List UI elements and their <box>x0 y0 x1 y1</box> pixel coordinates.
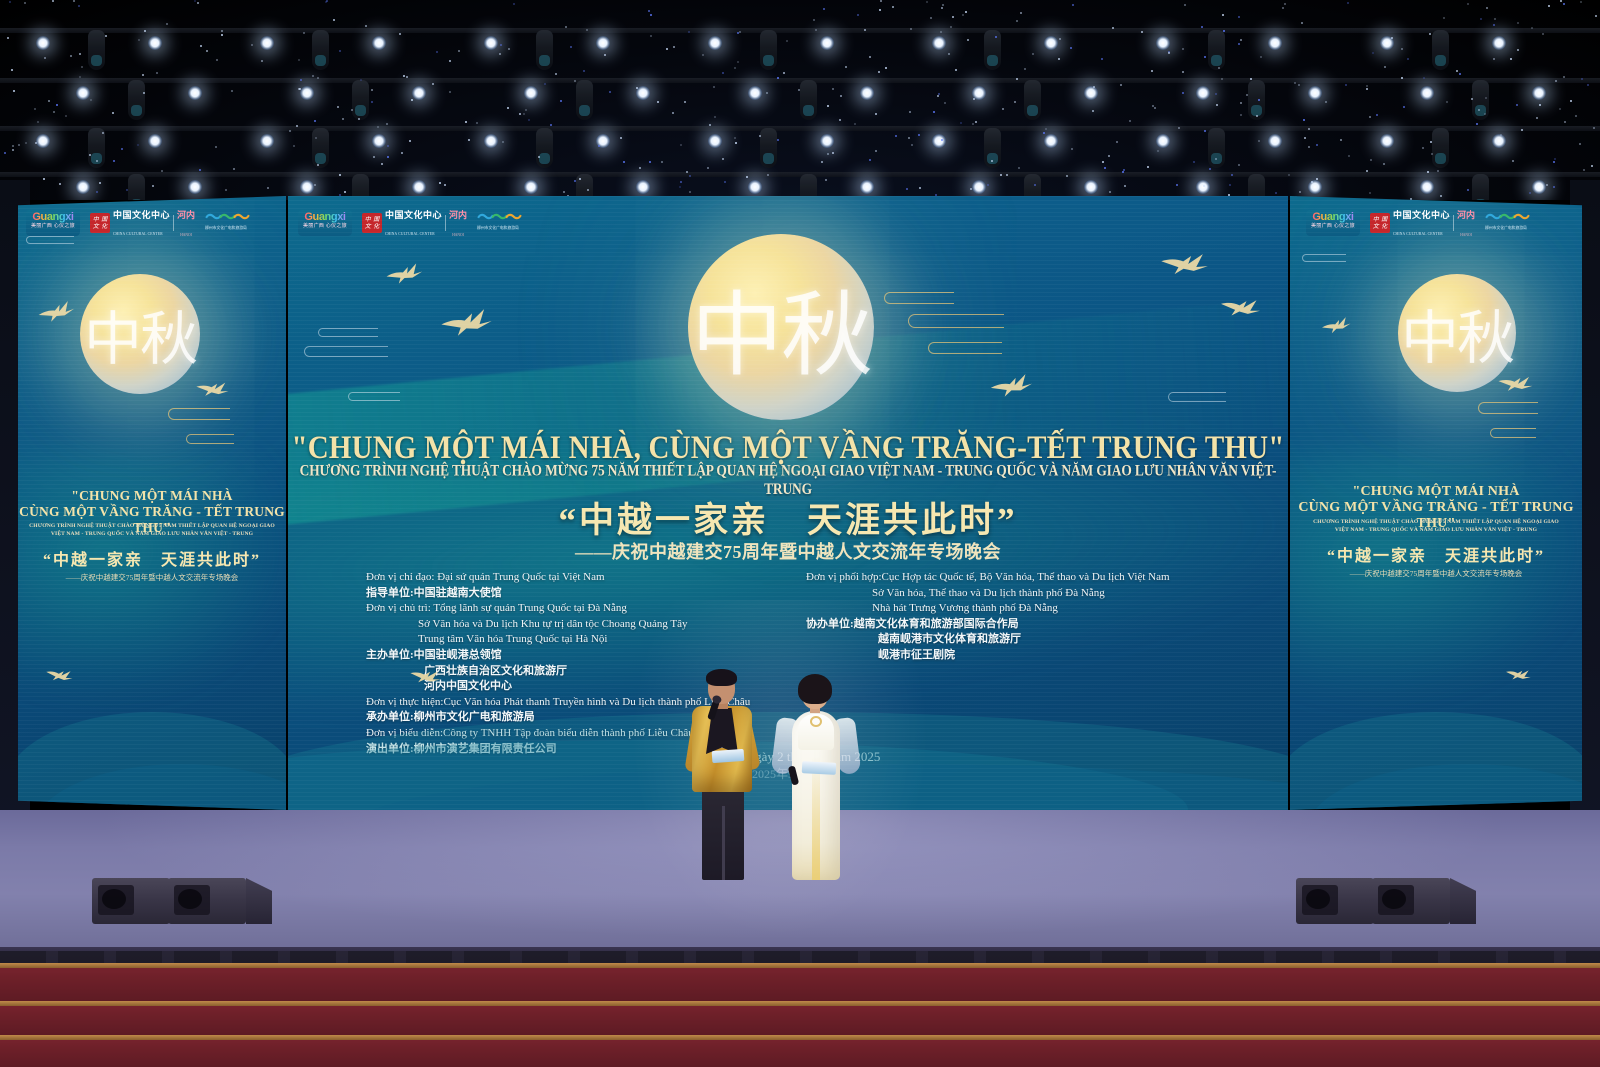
ceiling-star-led <box>1366 170 1368 172</box>
stage-downlight <box>932 134 946 148</box>
stage-downlight <box>260 134 274 148</box>
ceiling-star-led <box>854 123 856 125</box>
ceiling-star-led <box>312 75 314 77</box>
ceiling-star-led <box>300 79 302 81</box>
ceiling-star-led <box>1456 70 1458 72</box>
ceiling-star-led <box>941 7 943 9</box>
ceiling-star-led <box>1486 7 1488 9</box>
ceiling-star-led <box>65 115 67 117</box>
ceiling-star-led <box>432 83 434 85</box>
stage-downlight <box>300 86 314 100</box>
stage-downlight <box>860 180 874 194</box>
guangxi-tourism-logo: Guangxi 美丽广西 心仪之旅 <box>298 210 352 236</box>
ceiling-star-led <box>102 132 104 134</box>
ceiling-star-led <box>937 95 939 97</box>
ceiling-star-led <box>96 160 98 162</box>
ceiling-star-led <box>1071 148 1073 150</box>
ceiling-star-led <box>1221 78 1223 80</box>
stage-downlight <box>484 36 498 50</box>
stage-step <box>0 1035 1600 1067</box>
necklace <box>810 716 822 727</box>
ceiling-star-led <box>387 156 389 158</box>
trousers <box>702 788 744 880</box>
stage-downlight <box>260 36 274 50</box>
ceiling-star-led <box>1401 48 1403 50</box>
ceiling-star-led <box>1298 84 1300 86</box>
ceiling-star-led <box>225 189 227 191</box>
ceiling-star-led <box>563 191 565 193</box>
ceiling-star-led <box>1101 58 1103 60</box>
cloud-scroll-motif <box>1168 392 1226 402</box>
ceiling-star-led <box>879 9 881 11</box>
red-seal-icon: 中国文化 <box>90 213 110 233</box>
ceiling-star-led <box>293 145 295 147</box>
ceiling-star-led <box>639 167 641 169</box>
ceiling-star-led <box>1238 43 1240 45</box>
ceiling-star-led <box>126 189 128 191</box>
ceiling-star-led <box>832 88 834 90</box>
ceiling-star-led <box>1182 92 1184 94</box>
ceiling-star-led <box>79 53 81 55</box>
ceiling-star-led <box>1122 171 1124 173</box>
ceiling-star-led <box>1250 78 1252 80</box>
stage-downlight <box>300 180 314 194</box>
moon-glyph: 中秋 <box>688 234 874 420</box>
ceiling-star-led <box>1311 181 1313 183</box>
ceiling-star-led <box>1563 3 1565 5</box>
ceiling-star-led <box>1024 68 1026 70</box>
credit-line: Đơn vị phối hợp:Cục Hợp tác Quốc tế, Bộ … <box>806 570 1170 586</box>
ceiling-star-led <box>1020 12 1022 14</box>
ceiling-star-led <box>689 175 691 177</box>
ceiling-star-led <box>1215 158 1217 160</box>
ceiling-star-led <box>1168 52 1170 54</box>
ceiling-star-led <box>298 88 300 90</box>
ceiling-star-led <box>1563 76 1565 78</box>
ceiling-star-led <box>1129 120 1131 122</box>
ceiling-star-led <box>623 161 625 163</box>
ceiling-star-led <box>326 0 328 2</box>
ceiling-star-led <box>143 92 145 94</box>
stage-downlight <box>972 180 986 194</box>
credit-line: 主办单位:中国驻岘港总领馆 <box>366 648 750 664</box>
ceiling-star-led <box>1369 116 1371 118</box>
ceiling-star-led <box>1536 117 1538 119</box>
ceiling-star-led <box>734 137 736 139</box>
ceiling-star-led <box>1124 185 1126 187</box>
ceiling-star-led <box>1548 5 1550 7</box>
stage-downlight <box>76 180 90 194</box>
ceiling-star-led <box>574 80 576 82</box>
ceiling-star-led <box>1002 108 1004 110</box>
stage-downlight <box>1084 86 1098 100</box>
ceiling-star-led <box>739 31 741 33</box>
stage-downlight <box>748 86 762 100</box>
stage-downlight <box>1268 134 1282 148</box>
ceiling-star-led <box>1034 184 1036 186</box>
ceiling-star-led <box>940 31 942 33</box>
ceiling-star-led <box>1542 33 1544 35</box>
ceiling-star-led <box>1246 94 1248 96</box>
ceiling-star-led <box>973 98 975 100</box>
ceiling-star-led <box>387 145 389 147</box>
ceiling-star-led <box>381 163 383 165</box>
cloud-scroll-motif <box>1302 254 1346 262</box>
ceiling-star-led <box>59 183 61 185</box>
ceiling-star-led <box>11 69 13 71</box>
led-panel-right: 中秋 Guangxi 美丽广西 心仪之旅 中国文化 中国文化中心 CHINA C… <box>1290 196 1582 810</box>
ceiling-star-led <box>1104 167 1106 169</box>
cue-card <box>712 749 745 763</box>
ceiling-star-led <box>735 142 737 144</box>
logo-bar-right: Guangxi 美丽广西 心仪之旅 中国文化 中国文化中心 CHINA CULT… <box>1306 210 1527 236</box>
ceiling-star-led <box>1092 110 1094 112</box>
ceiling-star-led <box>560 100 562 102</box>
ceiling-star-led <box>1580 1 1582 3</box>
stage-downlight <box>188 180 202 194</box>
ceiling-star-led <box>37 121 39 123</box>
ceiling-star-led <box>555 73 557 75</box>
moving-head-fixture <box>1432 30 1449 70</box>
ceiling-star-led <box>620 137 622 139</box>
ceiling-star-led <box>636 87 638 89</box>
ceiling-star-led <box>1204 56 1206 58</box>
ceiling-star-led <box>1546 184 1548 186</box>
ceiling-star-led <box>942 4 944 6</box>
ceiling-star-led <box>339 50 341 52</box>
ceiling-star-led <box>1229 184 1231 186</box>
ceiling-star-led <box>930 17 932 19</box>
stage-downlight <box>484 134 498 148</box>
moving-head-fixture <box>536 30 553 70</box>
cloud-scroll-motif <box>928 342 1002 354</box>
ceiling-star-led <box>609 91 611 93</box>
ceiling-star-led <box>1553 161 1555 163</box>
ceiling-star-led <box>1184 4 1186 6</box>
stage-downlight <box>1308 86 1322 100</box>
ceiling-star-led <box>1446 101 1448 103</box>
stage-monitor-left <box>92 878 272 924</box>
credits-column-right: Đơn vị phối hợp:Cục Hợp tác Quốc tế, Bộ … <box>806 570 1170 664</box>
moving-head-fixture <box>1208 128 1225 168</box>
red-seal-icon: 中国文化 <box>1370 213 1390 233</box>
ceiling-star-led <box>48 100 50 102</box>
ceiling-star-led <box>1182 71 1184 73</box>
ceiling-star-led <box>1258 140 1260 142</box>
ceiling-star-led <box>1560 0 1562 2</box>
ceiling-star-led <box>523 113 525 115</box>
male-mc <box>688 672 756 880</box>
truss-bar <box>0 28 1600 33</box>
ceiling-star-led <box>1579 143 1581 145</box>
ceiling-star-led <box>465 121 467 123</box>
ceiling-star-led <box>121 148 123 150</box>
ceiling-star-led <box>358 118 360 120</box>
ceiling-star-led <box>458 50 460 52</box>
ceiling-star-led <box>411 99 413 101</box>
stage-downlight <box>1196 86 1210 100</box>
ceiling-star-led <box>333 19 335 21</box>
ceiling-star-led <box>1102 161 1104 163</box>
ceiling-star-led <box>1575 115 1577 117</box>
ceiling-star-led <box>1407 58 1409 60</box>
ceiling-star-led <box>144 30 146 32</box>
stage-downlight <box>1084 180 1098 194</box>
ceiling-star-led <box>1369 192 1371 194</box>
ceiling-star-led <box>991 160 993 162</box>
china-cultural-center-logo: 中国文化 中国文化中心 CHINA CULTURAL CENTER 河内 HAN… <box>90 210 195 236</box>
ceiling-star-led <box>386 123 388 125</box>
moving-head-fixture <box>576 80 593 120</box>
ceiling-star-led <box>813 19 815 21</box>
ceiling-star-led <box>746 176 748 178</box>
moving-head-fixture <box>1472 80 1489 120</box>
crane-icon <box>437 304 495 343</box>
main-subtitle-chinese: ——庆祝中越建交75周年暨中越人文交流年专场晚会 <box>288 538 1288 564</box>
ceiling-star-led <box>525 109 527 111</box>
ceiling-star-led <box>1366 88 1368 90</box>
china-cultural-center-logo: 中国文化 中国文化中心 CHINA CULTURAL CENTER 河内 HAN… <box>1370 210 1475 236</box>
ceiling-star-led <box>1529 192 1531 194</box>
ceiling-star-led <box>970 188 972 190</box>
cloud-scroll-motif <box>1490 428 1536 438</box>
ceiling-star-led <box>550 124 552 126</box>
ceiling-star-led <box>604 54 606 56</box>
ceiling-star-led <box>1467 189 1469 191</box>
cloud-scroll-motif <box>304 346 388 357</box>
ceiling-star-led <box>96 191 98 193</box>
ceiling-star-led <box>1256 115 1258 117</box>
ceiling-star-led <box>1325 101 1327 103</box>
ceiling-star-led <box>783 72 785 74</box>
ceiling-star-led <box>1294 82 1296 84</box>
ceiling-star-led <box>1151 70 1153 72</box>
ceiling-star-led <box>12 149 14 151</box>
side-subtitle-cn-right: ——庆祝中越建交75周年暨中越人文交流年专场晚会 <box>1290 568 1582 579</box>
ceiling-star-led <box>81 66 83 68</box>
ceiling-star-led <box>1587 84 1589 86</box>
ceiling-star-led <box>777 77 779 79</box>
ceiling-star-led <box>598 145 600 147</box>
ceiling-star-led <box>869 56 871 58</box>
ceiling-star-led <box>7 37 9 39</box>
stage-downlight <box>36 36 50 50</box>
ceiling-star-led <box>1554 158 1556 160</box>
ceiling-star-led <box>89 154 91 156</box>
ceiling-star-led <box>1478 109 1480 111</box>
ceiling-star-led <box>233 168 235 170</box>
stage-downlight <box>1044 36 1058 50</box>
side-subtitle-right: CHƯƠNG TRÌNH NGHỆ THUẬT CHÀO MỪNG 75 NĂM… <box>1290 518 1582 534</box>
ceiling-star-led <box>1347 2 1349 4</box>
truss-bar <box>0 126 1600 131</box>
ceiling-star-led <box>52 0 54 2</box>
ceiling-star-led <box>1108 155 1110 157</box>
ceiling-star-led <box>1282 7 1284 9</box>
ceiling-star-led <box>231 90 233 92</box>
red-seal-icon: 中国文化 <box>362 213 382 233</box>
ceiling-star-led <box>78 5 80 7</box>
ceiling-star-led <box>314 120 316 122</box>
ceiling-star-led <box>303 32 305 34</box>
crane-icon <box>1156 245 1211 282</box>
stage-downlight <box>636 86 650 100</box>
ceiling-star-led <box>1223 30 1225 32</box>
ceiling-star-led <box>18 144 20 146</box>
credit-line: 协办单位:越南文化体育和旅游部国际合作局 <box>806 617 1170 633</box>
ceiling-star-led <box>1109 191 1111 193</box>
ceiling-star-led <box>538 156 540 158</box>
moving-head-fixture <box>1208 30 1225 70</box>
ceiling-star-led <box>666 48 668 50</box>
stage-downlight <box>1420 180 1434 194</box>
ceiling-star-led <box>500 44 502 46</box>
ceiling-star-led <box>1231 174 1233 176</box>
moving-head-fixture <box>536 128 553 168</box>
cloud-scroll-motif <box>908 314 1004 328</box>
ceiling-star-led <box>24 2 26 4</box>
stage-downlight <box>708 134 722 148</box>
ceiling-star-led <box>344 191 346 193</box>
stage-downlight <box>524 180 538 194</box>
ceiling-star-led <box>680 144 682 146</box>
stage-downlight <box>636 180 650 194</box>
ceiling-star-led <box>1539 104 1541 106</box>
ceiling-star-led <box>90 99 92 101</box>
ceiling-star-led <box>221 30 223 32</box>
ceiling-star-led <box>1553 186 1555 188</box>
ceiling-star-led <box>1531 27 1533 29</box>
ceiling-star-led <box>1382 42 1384 44</box>
ceiling-star-led <box>679 186 681 188</box>
ceiling-star-led <box>649 161 651 163</box>
ceiling-star-led <box>221 34 223 36</box>
ceiling-star-led <box>44 57 46 59</box>
stage-downlight <box>860 86 874 100</box>
ceiling-star-led <box>99 182 101 184</box>
moving-head-fixture <box>88 30 105 70</box>
ceiling-star-led <box>880 0 882 2</box>
ceiling-star-led <box>686 171 688 173</box>
ceiling-star-led <box>12 145 14 147</box>
ceiling-star-led <box>1058 58 1060 60</box>
ceiling-star-led <box>1521 129 1523 131</box>
ceiling-star-led <box>821 161 823 163</box>
ceiling-star-led <box>1093 86 1095 88</box>
ceiling-star-led <box>56 104 58 106</box>
ceiling-star-led <box>1059 38 1061 40</box>
ceiling-star-led <box>1366 85 1368 87</box>
ceiling-star-led <box>1570 100 1572 102</box>
ceiling-star-led <box>449 91 451 93</box>
credit-line: 指导单位:中国驻越南大使馆 <box>366 586 750 602</box>
ceiling-star-led <box>574 180 576 182</box>
ceiling-star-led <box>1593 127 1595 129</box>
cloud-scroll-motif <box>318 328 378 337</box>
cloud-scroll-motif <box>26 236 74 244</box>
ceiling-star-led <box>1216 104 1218 106</box>
ceiling-star-led <box>815 29 817 31</box>
ceiling-star-led <box>1345 84 1347 86</box>
side-subtitle-cn-left: ——庆祝中越建交75周年暨中越人文交流年专场晚会 <box>18 572 286 583</box>
ceiling-star-led <box>673 46 675 48</box>
ceiling-star-led <box>1018 167 1020 169</box>
ceiling-star-led <box>1372 52 1374 54</box>
ceiling-star-led <box>767 174 769 176</box>
ceiling-star-led <box>1564 121 1566 123</box>
ceiling-star-led <box>137 144 139 146</box>
ceiling-star-led <box>965 11 967 13</box>
credit-line: 越南岘港市文化体育和旅游厅 <box>806 632 1170 648</box>
ceiling-star-led <box>579 178 581 180</box>
cloud-scroll-motif <box>1478 402 1538 414</box>
side-subtitle-left: CHƯƠNG TRÌNH NGHỆ THUẬT CHÀO MỪNG 75 NĂM… <box>18 522 286 538</box>
crane-icon <box>1495 369 1536 398</box>
stage-downlight <box>1156 134 1170 148</box>
ceiling-star-led <box>377 126 379 128</box>
led-panel-left: 中秋 Guangxi 美丽广西 心仪之旅 中国文化 中国文化中心 CHINA C… <box>18 196 286 810</box>
ceiling-star-led <box>583 70 585 72</box>
side-title-cn-left: “中越一家亲 天涯共此时” <box>18 546 286 570</box>
cloud-scroll-motif <box>348 392 400 401</box>
ceiling-star-led <box>857 14 859 16</box>
ceiling-star-led <box>709 124 711 126</box>
ceiling-star-led <box>513 3 515 5</box>
ceiling-star-led <box>508 48 510 50</box>
ceiling-star-led <box>1493 58 1495 60</box>
ceiling-star-led <box>759 135 761 137</box>
ceiling-star-led <box>1045 128 1047 130</box>
ceiling-star-led <box>35 142 37 144</box>
moving-head-fixture <box>128 80 145 120</box>
ceiling-star-led <box>444 184 446 186</box>
stage-downlight <box>76 86 90 100</box>
stage-downlight <box>1492 36 1506 50</box>
ceiling-star-led <box>399 33 401 35</box>
ceiling-star-led <box>1595 15 1597 17</box>
moving-head-fixture <box>352 80 369 120</box>
ceiling-star-led <box>1203 185 1205 187</box>
ceiling-star-led <box>1581 78 1583 80</box>
logo-divider <box>445 215 446 231</box>
ceiling-star-led <box>737 61 739 63</box>
ceiling-star-led <box>565 26 567 28</box>
ceiling-star-led <box>1072 4 1074 6</box>
cable-run <box>0 951 1600 963</box>
moving-head-fixture <box>312 128 329 168</box>
ceiling-star-led <box>161 170 163 172</box>
ceiling-star-led <box>707 167 709 169</box>
ceiling-star-led <box>825 179 827 181</box>
ceiling-star-led <box>1480 18 1482 20</box>
ceiling-star-led <box>519 113 521 115</box>
ceiling-star-led <box>941 139 943 141</box>
ceiling-star-led <box>586 29 588 31</box>
ceiling-star-led <box>1299 191 1301 193</box>
ceiling-star-led <box>1512 160 1514 162</box>
ceiling-star-led <box>1427 171 1429 173</box>
ceiling-star-led <box>1403 106 1405 108</box>
ceiling-star-led <box>499 53 501 55</box>
ceiling-star-led <box>911 144 913 146</box>
ceiling-star-led <box>1218 67 1220 69</box>
ceiling-star-led <box>722 158 724 160</box>
ceiling-star-led <box>1493 24 1495 26</box>
ceiling-star-led <box>967 39 969 41</box>
ceiling-star-led <box>449 60 451 62</box>
ceiling-star-led <box>724 181 726 183</box>
moving-head-fixture <box>984 128 1001 168</box>
